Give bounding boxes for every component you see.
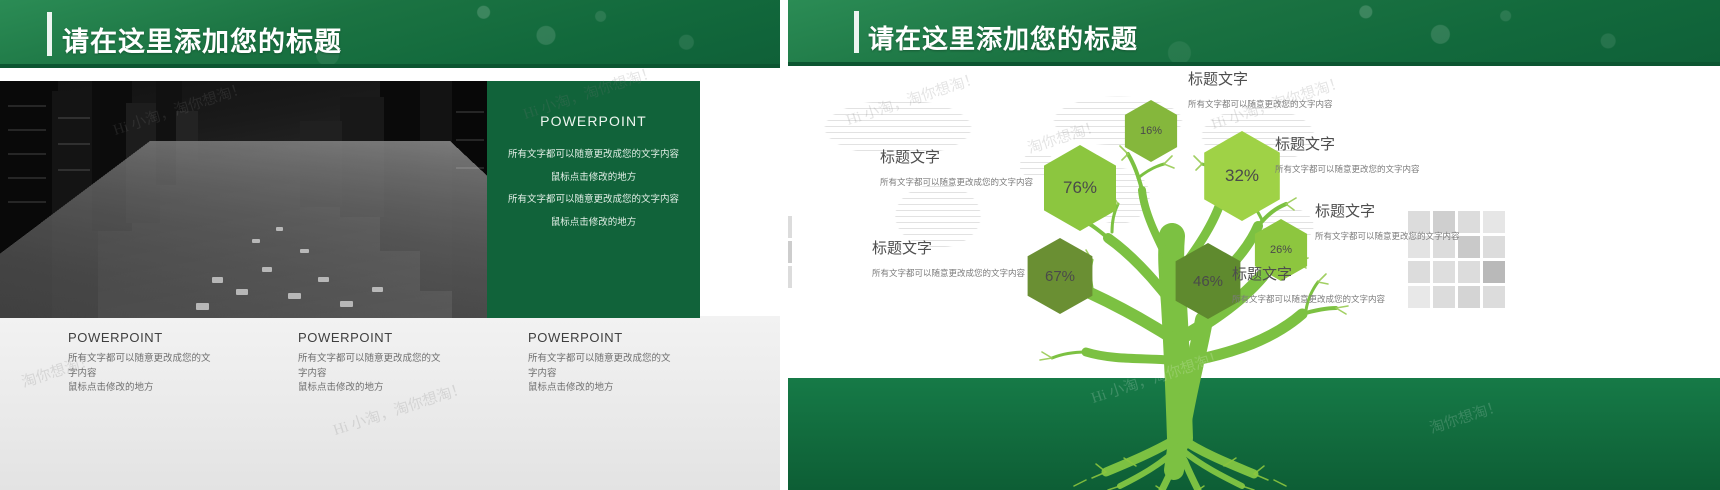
column-body: 所有文字都可以随意更改成您的文字内容 鼠标点击修改的地方 bbox=[528, 352, 678, 396]
slide1-title: 请在这里添加您的标题 bbox=[62, 20, 342, 59]
callout-heading: 标题文字 bbox=[1275, 133, 1425, 154]
text-column: POWERPOINT 所有文字都可以随意更改成您的文字内容 鼠标点击修改的地方 bbox=[528, 330, 733, 396]
slide1-header: 请在这里添加您的标题 bbox=[0, 0, 780, 68]
panel-line: 所有文字都可以随意更改成您的文字内容 bbox=[506, 192, 682, 209]
callout-body: 所有文字都可以随意更改成您的文字内容 bbox=[1232, 293, 1396, 307]
callout-heading: 标题文字 bbox=[880, 146, 1050, 167]
callout-label-lower-left: 标题文字 所有文字都可以随意更改成您的文字内容 bbox=[872, 237, 1044, 281]
title-accent-bar bbox=[47, 12, 52, 56]
slide1-body: POWERPOINT 所有文字都可以随意更改成您的文字内容 鼠标点击修改的地方 … bbox=[0, 68, 780, 490]
text-column: POWERPOINT 所有文字都可以随意更改成您的文字内容 鼠标点击修改的地方 bbox=[298, 330, 503, 396]
callout-body: 所有文字都可以随意更改您的文字内容 bbox=[1315, 230, 1473, 244]
column-heading: POWERPOINT bbox=[68, 330, 273, 345]
callout-label-upper-right: 标题文字 所有文字都可以随意更改您的文字内容 bbox=[1275, 133, 1425, 177]
leaf-hexagon-76: 76% bbox=[1040, 145, 1120, 231]
callout-label-top: 标题文字 所有文字都可以随意更改您的文字内容 bbox=[1188, 68, 1334, 112]
callout-heading: 标题文字 bbox=[1315, 200, 1473, 221]
column-body-text: 所有文字都可以随意更改成您的文字内容 鼠标点击修改的地方 bbox=[298, 352, 448, 396]
leaf-value: 46% bbox=[1193, 273, 1223, 290]
callout-label-right: 标题文字 所有文字都可以随意更改您的文字内容 bbox=[1315, 200, 1473, 244]
green-text-panel: POWERPOINT 所有文字都可以随意更改成您的文字内容 鼠标点击修改的地方 … bbox=[487, 81, 700, 318]
callout-heading: 标题文字 bbox=[872, 237, 1044, 258]
text-column: POWERPOINT 所有文字都可以随意更改成您的文字内容 鼠标点击修改的地方 bbox=[68, 330, 273, 396]
slide2-header: 请在这里添加您的标题 bbox=[788, 0, 1720, 66]
leaf-hexagon-16: 16% bbox=[1122, 100, 1180, 162]
column-heading: POWERPOINT bbox=[528, 330, 733, 345]
callout-body: 所有文字都可以随意更改您的文字内容 bbox=[1275, 163, 1425, 177]
column-body-text: 所有文字都可以随意更改成您的文字内容 鼠标点击修改的地方 bbox=[68, 352, 218, 396]
callout-label-upper-left: 标题文字 所有文字都可以随意更改成您的文字内容 bbox=[880, 146, 1050, 190]
slide-thumbnail-1[interactable]: 请在这里添加您的标题 bbox=[0, 0, 780, 490]
cityscape-photo bbox=[0, 81, 487, 318]
panel-body: 所有文字都可以随意更改成您的文字内容 鼠标点击修改的地方 所有文字都可以随意更改… bbox=[506, 147, 682, 232]
mosaic-decoration-left bbox=[788, 216, 792, 288]
panel-line: 所有文字都可以随意更改成您的文字内容 bbox=[506, 147, 682, 164]
panel-title: POWERPOINT bbox=[487, 113, 700, 129]
column-body-text: 所有文字都可以随意更改成您的文字内容 鼠标点击修改的地方 bbox=[528, 352, 678, 396]
leaf-value: 76% bbox=[1063, 178, 1097, 198]
leaf-value: 32% bbox=[1225, 166, 1259, 186]
column-body: 所有文字都可以随意更改成您的文字内容 鼠标点击修改的地方 bbox=[68, 352, 218, 396]
column-body: 所有文字都可以随意更改成您的文字内容 鼠标点击修改的地方 bbox=[298, 352, 448, 396]
slide-deck: 请在这里添加您的标题 bbox=[0, 0, 1720, 490]
leaf-value: 16% bbox=[1140, 125, 1162, 137]
panel-line: 鼠标点击修改的地方 bbox=[506, 170, 682, 187]
callout-body: 所有文字都可以随意更改成您的文字内容 bbox=[872, 267, 1044, 281]
title-accent-bar bbox=[854, 11, 859, 53]
slide-gutter bbox=[780, 0, 788, 490]
leaf-value: 26% bbox=[1270, 244, 1292, 256]
callout-label-lower-right: 标题文字 所有文字都可以随意更改成您的文字内容 bbox=[1232, 263, 1396, 307]
slide2-title: 请在这里添加您的标题 bbox=[868, 19, 1138, 56]
callout-body: 所有文字都可以随意更改您的文字内容 bbox=[1188, 98, 1334, 112]
column-heading: POWERPOINT bbox=[298, 330, 503, 345]
leaf-hexagon-32: 32% bbox=[1200, 131, 1284, 221]
leaf-value: 67% bbox=[1045, 268, 1075, 285]
callout-heading: 标题文字 bbox=[1232, 263, 1396, 284]
callout-body: 所有文字都可以随意更改成您的文字内容 bbox=[880, 176, 1050, 190]
panel-line: 鼠标点击修改的地方 bbox=[506, 215, 682, 232]
callout-heading: 标题文字 bbox=[1188, 68, 1334, 89]
